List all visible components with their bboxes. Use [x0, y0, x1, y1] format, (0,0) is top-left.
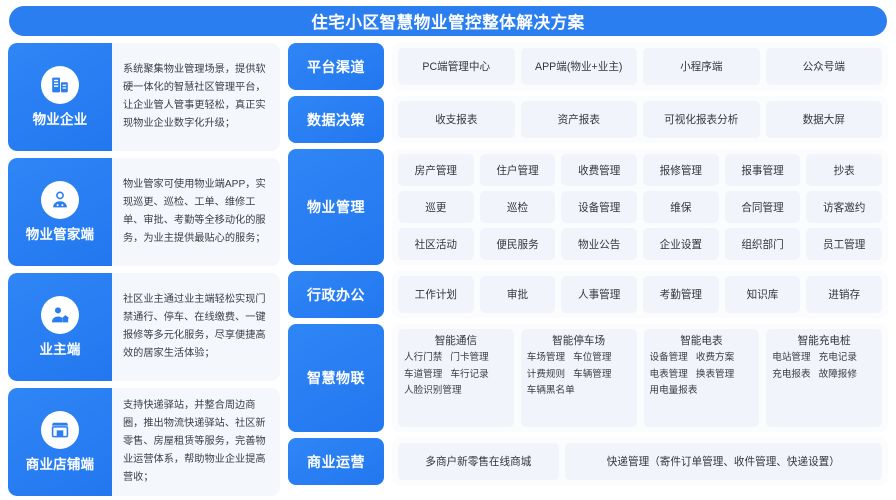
capability-chip[interactable]: 人事管理 [561, 276, 637, 313]
capability-chip[interactable]: 企业设置 [643, 228, 719, 260]
iot-group-title: 智能充电桩 [798, 333, 851, 348]
capability-chip[interactable]: 合同管理 [725, 191, 801, 223]
page-title: 住宅小区智慧物业管控整体解决方案 [311, 9, 585, 33]
capability-chip[interactable]: 知识库 [725, 276, 801, 313]
iot-item[interactable]: 设备管理 [650, 350, 688, 366]
iot-item[interactable]: 车行记录 [450, 367, 488, 383]
iot-item[interactable]: 计费规则 [527, 367, 565, 383]
persona-description: 系统聚集物业管理场景，提供软硬一体化的智慧社区管理平台，让企业管人管事更轻松，真… [123, 61, 270, 132]
iot-item[interactable]: 人脸识别管理 [404, 383, 510, 399]
persona-badge: 物业管家端 [8, 158, 112, 266]
resident-home-icon [41, 296, 79, 334]
capability-chip[interactable]: APP端(物业+业主) [521, 48, 638, 85]
capability-chip[interactable]: 组织部门 [725, 228, 801, 260]
iot-item[interactable]: 车位管理 [573, 350, 611, 366]
persona-description-panel: 系统聚集物业管理场景，提供软硬一体化的智慧社区管理平台，让企业管人管事更轻松，真… [112, 43, 280, 151]
persona-description: 物业管家可使用物业端APP，实现巡更、巡检、工单、维修工单、审批、考勤等全移动化… [123, 176, 270, 247]
section-data-decision: 数据决策 收支报表 资产报表 可视化报表分析 数据大屏 [288, 96, 888, 143]
capability-chip[interactable]: 维保 [643, 191, 719, 223]
capability-chip[interactable]: 资产报表 [521, 101, 638, 138]
persona-description: 支持快递驿站，并整合周边商圈，推出物流快递驿站、社区新零售、房屋租赁等服务，完善… [123, 397, 270, 486]
section-smart-iot: 智慧物联 智能通信 人行门禁 门卡管理 车道管理 车行记录 人脸识别管理 [288, 324, 888, 432]
capability-chip[interactable]: 设备管理 [561, 191, 637, 223]
page-title-bar: 住宅小区智慧物业管控整体解决方案 [9, 6, 887, 36]
capability-chip[interactable]: 数据大屏 [766, 101, 883, 138]
chip-row: PC端管理中心 APP端(物业+业主) 小程序端 公众号端 [398, 48, 882, 85]
iot-group-smart-parking: 智能停车场 车场管理 车位管理 计费规则 车辆管理 车辆黑名单 [521, 329, 637, 427]
persona-description-panel: 社区业主通过业主端轻松实现门禁通行、停车、在线缴费、一键报修等多元化服务，尽享便… [112, 273, 280, 381]
iot-item[interactable]: 车辆黑名单 [527, 383, 633, 399]
capability-chip[interactable]: 报修管理 [643, 154, 719, 186]
capability-chip[interactable]: 访客邀约 [806, 191, 882, 223]
section-items: 工作计划 审批 人事管理 考勤管理 知识库 进销存 [392, 271, 888, 318]
capability-chip[interactable]: 可视化报表分析 [643, 101, 760, 138]
diagram-body: 物业企业 系统聚集物业管理场景，提供软硬一体化的智慧社区管理平台，让企业管人管事… [8, 43, 888, 496]
iot-item[interactable]: 车场管理 [527, 350, 565, 366]
capability-chip[interactable]: 抄表 [806, 154, 882, 186]
section-items: 房产管理 住户管理 收费管理 报修管理 报事管理 抄表 巡更 巡检 设备管理 维… [392, 149, 888, 265]
capability-chip[interactable]: 进销存 [806, 276, 882, 313]
iot-item[interactable]: 电站管理 [772, 350, 810, 366]
iot-group-row: 智能通信 人行门禁 门卡管理 车道管理 车行记录 人脸识别管理 智能停车场 [398, 329, 882, 427]
capability-chip[interactable]: 巡更 [398, 191, 474, 223]
storefront-icon [41, 411, 79, 449]
steward-user-icon [41, 181, 79, 219]
iot-group-items: 电站管理 充电记录 充电报表 故障报修 [770, 350, 878, 382]
section-platform-channel: 平台渠道 PC端管理中心 APP端(物业+业主) 小程序端 公众号端 [288, 43, 888, 90]
building-icon [41, 66, 79, 104]
section-items: 收支报表 资产报表 可视化报表分析 数据大屏 [392, 96, 888, 143]
iot-group-smart-communication: 智能通信 人行门禁 门卡管理 车道管理 车行记录 人脸识别管理 [398, 329, 514, 427]
capability-chip[interactable]: 物业公告 [561, 228, 637, 260]
capability-chip[interactable]: 审批 [480, 276, 556, 313]
section-label[interactable]: 商业运营 [288, 438, 384, 485]
capability-chip[interactable]: 住户管理 [480, 154, 556, 186]
capability-chip[interactable]: 工作计划 [398, 276, 474, 313]
chip-row: 社区活动 便民服务 物业公告 企业设置 组织部门 员工管理 [398, 228, 882, 260]
section-business-operation: 商业运营 多商户新零售在线商城 快递管理（寄件订单管理、收件管理、快递设置） [288, 438, 888, 485]
section-label[interactable]: 平台渠道 [288, 43, 384, 90]
iot-group-title: 智能通信 [435, 333, 477, 348]
persona-label: 业主端 [39, 338, 80, 358]
persona-description-panel: 物业管家可使用物业端APP，实现巡更、巡检、工单、维修工单、审批、考勤等全移动化… [112, 158, 280, 266]
capability-column: 平台渠道 PC端管理中心 APP端(物业+业主) 小程序端 公众号端 数据决策 … [288, 43, 888, 496]
section-label[interactable]: 智慧物联 [288, 324, 384, 432]
persona-card-property-enterprise[interactable]: 物业企业 系统聚集物业管理场景，提供软硬一体化的智慧社区管理平台，让企业管人管事… [8, 43, 280, 151]
capability-chip[interactable]: 社区活动 [398, 228, 474, 260]
iot-item[interactable]: 收费方案 [696, 350, 734, 366]
persona-badge: 商业店铺端 [8, 388, 112, 496]
iot-item[interactable]: 用电量报表 [650, 383, 756, 399]
iot-group-title: 智能电表 [680, 333, 722, 348]
persona-column: 物业企业 系统聚集物业管理场景，提供软硬一体化的智慧社区管理平台，让企业管人管事… [8, 43, 280, 496]
section-property-management: 物业管理 房产管理 住户管理 收费管理 报修管理 报事管理 抄表 巡更 巡检 设… [288, 149, 888, 265]
persona-description-panel: 支持快递驿站，并整合周边商圈，推出物流快递驿站、社区新零售、房屋租赁等服务，完善… [112, 388, 280, 496]
persona-card-resident[interactable]: 业主端 社区业主通过业主端轻松实现门禁通行、停车、在线缴费、一键报修等多元化服务… [8, 273, 280, 381]
section-items: PC端管理中心 APP端(物业+业主) 小程序端 公众号端 [392, 43, 888, 90]
capability-chip[interactable]: 考勤管理 [643, 276, 719, 313]
iot-group-items: 车场管理 车位管理 计费规则 车辆管理 车辆黑名单 [525, 350, 633, 399]
capability-chip[interactable]: 收支报表 [398, 101, 515, 138]
section-items: 多商户新零售在线商城 快递管理（寄件订单管理、收件管理、快递设置） [392, 438, 888, 485]
persona-badge: 业主端 [8, 273, 112, 381]
section-administrative-office: 行政办公 工作计划 审批 人事管理 考勤管理 知识库 进销存 [288, 271, 888, 318]
capability-chip[interactable]: PC端管理中心 [398, 48, 515, 85]
persona-label: 商业店铺端 [26, 453, 95, 473]
iot-item[interactable]: 车辆管理 [573, 367, 611, 383]
iot-group-items: 人行门禁 门卡管理 车道管理 车行记录 人脸识别管理 [402, 350, 510, 399]
section-label[interactable]: 物业管理 [288, 149, 384, 265]
capability-chip[interactable]: 公众号端 [766, 48, 883, 85]
persona-badge: 物业企业 [8, 43, 112, 151]
capability-chip[interactable]: 多商户新零售在线商城 [398, 443, 559, 480]
capability-chip[interactable]: 员工管理 [806, 228, 882, 260]
capability-chip[interactable]: 便民服务 [480, 228, 556, 260]
chip-row: 工作计划 审批 人事管理 考勤管理 知识库 进销存 [398, 276, 882, 313]
section-label[interactable]: 数据决策 [288, 96, 384, 143]
iot-item[interactable]: 充电记录 [819, 350, 857, 366]
capability-chip[interactable]: 小程序端 [643, 48, 760, 85]
iot-group-smart-charging-pile: 智能充电桩 电站管理 充电记录 充电报表 故障报修 [766, 329, 882, 427]
iot-item[interactable]: 人行门禁 [404, 350, 442, 366]
capability-chip[interactable]: 房产管理 [398, 154, 474, 186]
iot-group-smart-meter: 智能电表 设备管理 收费方案 电表管理 换表管理 用电量报表 [644, 329, 760, 427]
iot-item[interactable]: 换表管理 [696, 367, 734, 383]
iot-item[interactable]: 车道管理 [404, 367, 442, 383]
capability-chip[interactable]: 快递管理（寄件订单管理、收件管理、快递设置） [565, 443, 882, 480]
chip-row: 多商户新零售在线商城 快递管理（寄件订单管理、收件管理、快递设置） [398, 443, 882, 480]
persona-description: 社区业主通过业主端轻松实现门禁通行、停车、在线缴费、一键报修等多元化服务，尽享便… [123, 291, 270, 362]
chip-row: 巡更 巡检 设备管理 维保 合同管理 访客邀约 [398, 191, 882, 223]
solution-diagram: 住宅小区智慧物业管控整体解决方案 [0, 0, 896, 500]
persona-card-property-steward[interactable]: 物业管家端 物业管家可使用物业端APP，实现巡更、巡检、工单、维修工单、审批、考… [8, 158, 280, 266]
persona-card-commercial-shop[interactable]: 商业店铺端 支持快递驿站，并整合周边商圈，推出物流快递驿站、社区新零售、房屋租赁… [8, 388, 280, 496]
iot-item[interactable]: 故障报修 [819, 367, 857, 383]
chip-row: 收支报表 资产报表 可视化报表分析 数据大屏 [398, 101, 882, 138]
capability-chip[interactable]: 巡检 [480, 191, 556, 223]
section-items: 智能通信 人行门禁 门卡管理 车道管理 车行记录 人脸识别管理 智能停车场 [392, 324, 888, 432]
iot-item[interactable]: 门卡管理 [450, 350, 488, 366]
persona-label: 物业企业 [33, 108, 88, 128]
chip-row: 房产管理 住户管理 收费管理 报修管理 报事管理 抄表 [398, 154, 882, 186]
capability-chip[interactable]: 报事管理 [725, 154, 801, 186]
section-label[interactable]: 行政办公 [288, 271, 384, 318]
iot-group-items: 设备管理 收费方案 电表管理 换表管理 用电量报表 [648, 350, 756, 399]
iot-item[interactable]: 电表管理 [650, 367, 688, 383]
capability-chip[interactable]: 收费管理 [561, 154, 637, 186]
persona-label: 物业管家端 [26, 223, 95, 243]
iot-item[interactable]: 充电报表 [772, 367, 810, 383]
iot-group-title: 智能停车场 [552, 333, 605, 348]
